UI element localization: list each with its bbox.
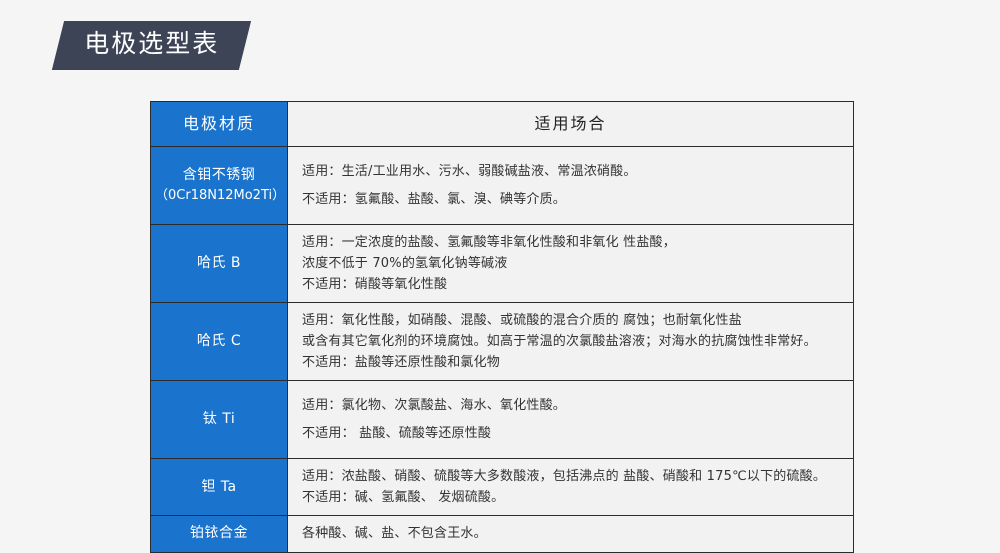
application-line: 适用：浓盐酸、硝酸、硫酸等大多数酸液，包括沸点的 盐酸、硝酸和 175℃以下的硫…: [302, 466, 843, 487]
application-line: 适用：生活/工业用水、污水、弱酸碱盐液、常温浓硝酸。: [302, 161, 843, 182]
material-name: 钽 Ta: [155, 477, 283, 498]
table-row: 哈氏 C适用：氧化性酸，如硝酸、混酸、或硫酸的混合介质的 腐蚀；也耐氧化性盐或含…: [151, 303, 854, 381]
material-cell: 哈氏 C: [151, 303, 288, 381]
application-cell: 适用：氧化性酸，如硝酸、混酸、或硫酸的混合介质的 腐蚀；也耐氧化性盐或含有其它氧…: [288, 303, 854, 381]
electrode-selection-table-container: 电极材质 适用场合 含钼不锈钢（0Cr18N12Mo2Ti）适用：生活/工业用水…: [150, 101, 853, 553]
material-cell: 钛 Ti: [151, 381, 288, 459]
application-line: 适用：氧化性酸，如硝酸、混酸、或硫酸的混合介质的 腐蚀；也耐氧化性盐: [302, 310, 843, 331]
material-cell: 铂铱合金: [151, 516, 288, 552]
application-line: 不适用：氢氟酸、盐酸、氯、溴、碘等介质。: [302, 189, 843, 210]
application-line: 不适用：盐酸等还原性酸和氯化物: [302, 352, 843, 373]
application-cell: 适用：氯化物、次氯酸盐、海水、氧化性酸。不适用： 盐酸、硫酸等还原性酸: [288, 381, 854, 459]
material-cell: 含钼不锈钢（0Cr18N12Mo2Ti）: [151, 146, 288, 224]
electrode-selection-table: 电极材质 适用场合 含钼不锈钢（0Cr18N12Mo2Ti）适用：生活/工业用水…: [150, 101, 854, 553]
page-title-banner: 电极选型表: [58, 21, 245, 70]
application-cell: 适用：浓盐酸、硝酸、硫酸等大多数酸液，包括沸点的 盐酸、硝酸和 175℃以下的硫…: [288, 459, 854, 516]
material-name: 哈氏 B: [155, 253, 283, 274]
application-cell: 适用：一定浓度的盐酸、氢氟酸等非氧化性酸和非氧化 性盐酸，浓度不低于 70%的氢…: [288, 225, 854, 303]
application-line: 适用：一定浓度的盐酸、氢氟酸等非氧化性酸和非氧化 性盐酸，: [302, 232, 843, 253]
application-line: 各种酸、碱、盐、不包含王水。: [302, 523, 843, 544]
material-code: （0Cr18N12Mo2Ti）: [155, 186, 283, 206]
table-row: 含钼不锈钢（0Cr18N12Mo2Ti）适用：生活/工业用水、污水、弱酸碱盐液、…: [151, 146, 854, 224]
application-line: 或含有其它氧化剂的环境腐蚀。如高于常温的次氯酸盐溶液；对海水的抗腐蚀性非常好。: [302, 331, 843, 352]
table-row: 钛 Ti适用：氯化物、次氯酸盐、海水、氧化性酸。不适用： 盐酸、硫酸等还原性酸: [151, 381, 854, 459]
material-name: 含钼不锈钢: [155, 165, 283, 186]
table-header-row: 电极材质 适用场合: [151, 102, 854, 147]
table-row: 哈氏 B适用：一定浓度的盐酸、氢氟酸等非氧化性酸和非氧化 性盐酸，浓度不低于 7…: [151, 225, 854, 303]
application-line: 不适用： 盐酸、硫酸等还原性酸: [302, 423, 843, 444]
application-line: 浓度不低于 70%的氢氧化钠等碱液: [302, 253, 843, 274]
application-cell: 各种酸、碱、盐、不包含王水。: [288, 516, 854, 552]
material-cell: 钽 Ta: [151, 459, 288, 516]
column-header-material: 电极材质: [151, 102, 288, 147]
column-header-application: 适用场合: [288, 102, 854, 147]
application-line: 不适用：碱、氢氟酸、 发烟硫酸。: [302, 487, 843, 508]
banner-shape: 电极选型表: [52, 21, 251, 70]
application-cell: 适用：生活/工业用水、污水、弱酸碱盐液、常温浓硝酸。不适用：氢氟酸、盐酸、氯、溴…: [288, 146, 854, 224]
page-title: 电极选型表: [84, 30, 219, 59]
table-row: 铂铱合金各种酸、碱、盐、不包含王水。: [151, 516, 854, 552]
material-name: 铂铱合金: [155, 523, 283, 544]
application-line: 不适用：硝酸等氧化性酸: [302, 274, 843, 295]
table-row: 钽 Ta适用：浓盐酸、硝酸、硫酸等大多数酸液，包括沸点的 盐酸、硝酸和 175℃…: [151, 459, 854, 516]
material-cell: 哈氏 B: [151, 225, 288, 303]
material-name: 钛 Ti: [155, 409, 283, 430]
application-line: 适用：氯化物、次氯酸盐、海水、氧化性酸。: [302, 395, 843, 416]
material-name: 哈氏 C: [155, 331, 283, 352]
